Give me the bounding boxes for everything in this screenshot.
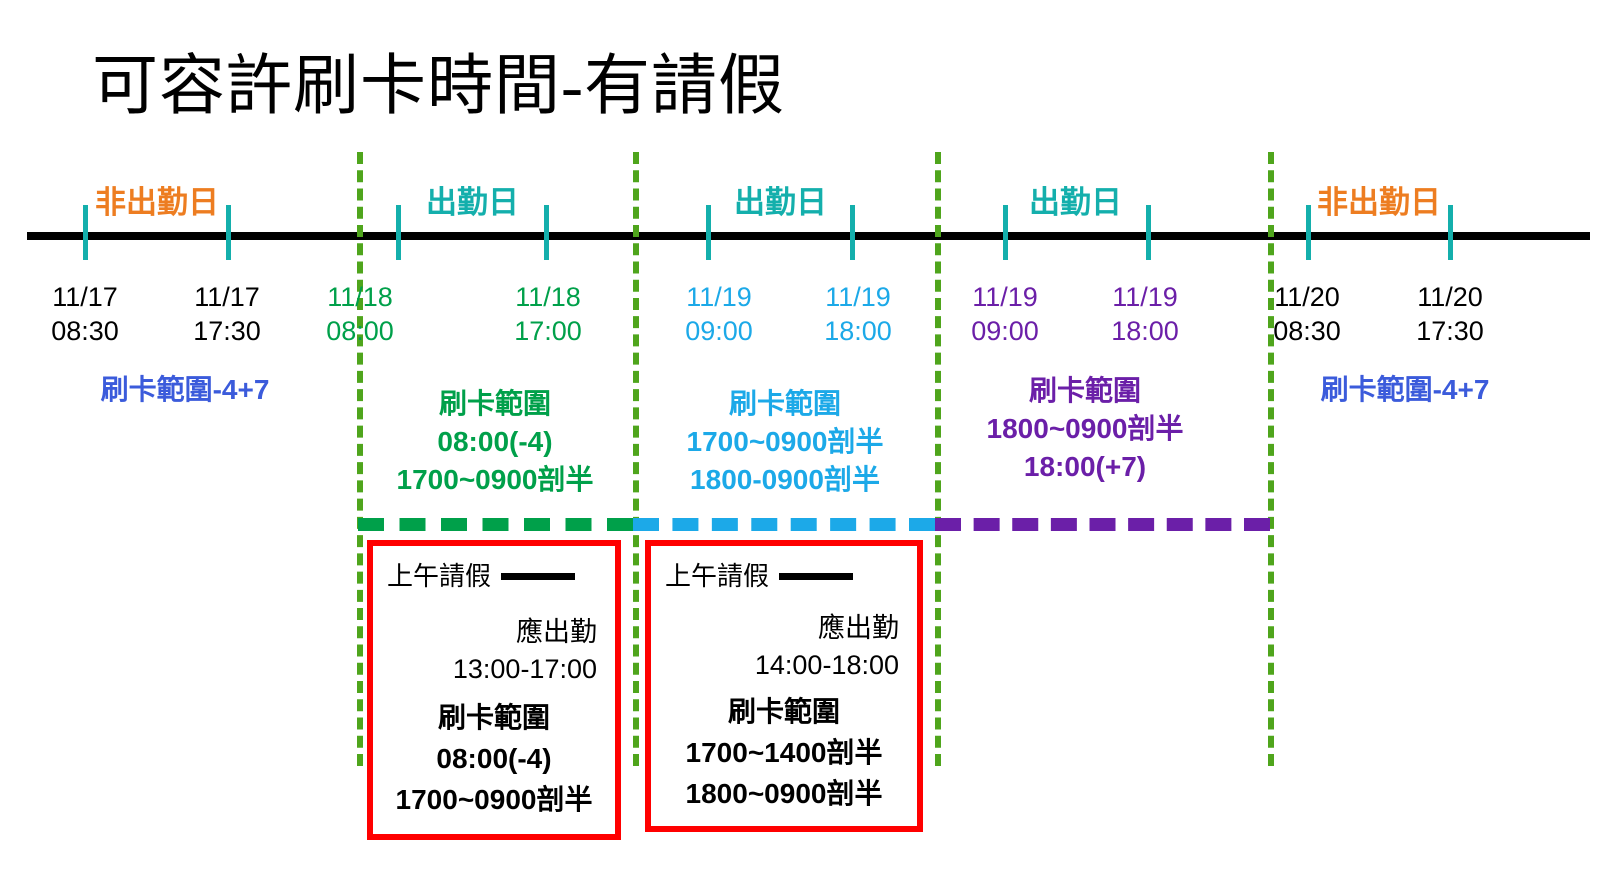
range-line-2: 1800-0900剖半 [645, 461, 925, 499]
range-title: 刷卡範圍 [360, 385, 630, 423]
stamp-date: 11/18 [300, 280, 420, 314]
stamp-date: 11/17 [167, 280, 287, 314]
range-line-1: 1700~0900剖半 [645, 423, 925, 461]
range-day-11-19-a: 刷卡範圍 1700~0900剖半 1800-0900剖半 [645, 385, 925, 499]
should-attend-label-11-19: 應出勤 [651, 610, 917, 646]
dashed-bar-blue [633, 518, 935, 531]
tick-start-day-11-17 [83, 205, 88, 260]
range-day-11-18: 刷卡範圍 08:00(-4) 1700~0900剖半 [360, 385, 630, 499]
leave-range-line-1-11-19: 1700~1400剖半 [651, 733, 917, 773]
stamp-date: 11/19 [945, 280, 1065, 314]
stamp-start-day-11-20: 11/20 08:30 [1247, 280, 1367, 348]
tick-start-day-11-18 [396, 205, 401, 260]
range-line-1: 08:00(-4) [360, 423, 630, 461]
timeline-axis [27, 232, 1590, 240]
day-label-day-11-19-b: 出勤日 [1013, 186, 1138, 220]
range-day-11-19-b: 刷卡範圍 1800~0900剖半 18:00(+7) [940, 372, 1230, 486]
stamp-time: 18:00 [798, 314, 918, 348]
tick-end-day-11-19-b [1146, 205, 1151, 260]
day-label-day-11-19-a: 出勤日 [718, 186, 843, 220]
stamp-end-day-11-19-b: 11/19 18:00 [1085, 280, 1205, 348]
leave-range-title-11-19: 刷卡範圍 [651, 692, 917, 732]
section-divider-4 [1268, 152, 1274, 766]
day-label-day-11-17: 非出勤日 [95, 186, 215, 220]
stamp-date: 11/20 [1247, 280, 1367, 314]
should-attend-time-11-18: 13:00-17:00 [373, 651, 615, 687]
diagram-canvas: 可容許刷卡時間-有請假 非出勤日 11/17 08:30 11/17 17:30… [0, 0, 1600, 869]
leave-range-line-2-11-19: 1800~0900剖半 [651, 774, 917, 814]
stamp-time: 09:00 [659, 314, 779, 348]
stamp-date: 11/20 [1390, 280, 1510, 314]
leave-head-11-19: 上午請假 [665, 560, 853, 592]
leave-range-line-2-11-18: 1700~0900剖半 [373, 780, 615, 820]
stamp-date: 11/19 [798, 280, 918, 314]
dashed-bar-green [358, 518, 633, 531]
day-label-day-11-18: 出勤日 [410, 186, 535, 220]
stamp-start-day-11-19-a: 11/19 09:00 [659, 280, 779, 348]
stamp-date: 11/19 [1085, 280, 1205, 314]
tick-end-day-11-20 [1448, 205, 1453, 260]
stamp-end-day-11-17: 11/17 17:30 [167, 280, 287, 348]
stamp-time: 18:00 [1085, 314, 1205, 348]
stamp-time: 08:30 [1247, 314, 1367, 348]
tick-end-day-11-17 [226, 205, 231, 260]
section-divider-2 [633, 152, 639, 766]
leave-head-11-18: 上午請假 [387, 560, 575, 592]
leave-range-line-1-11-18: 08:00(-4) [373, 739, 615, 779]
stamp-date: 11/17 [25, 280, 145, 314]
stamp-time: 17:30 [1390, 314, 1510, 348]
leave-box-11-18: 上午請假 應出勤 13:00-17:00 刷卡範圍 08:00(-4) 1700… [367, 540, 621, 840]
range-title: 刷卡範圍 [940, 372, 1230, 410]
leave-head-label: 上午請假 [387, 560, 491, 592]
stamp-date: 11/19 [659, 280, 779, 314]
range-day-11-20: 刷卡範圍-4+7 [1270, 368, 1540, 408]
stamp-end-day-11-18: 11/18 17:00 [488, 280, 608, 348]
leave-rule-line [501, 573, 575, 580]
range-line-2: 18:00(+7) [940, 448, 1230, 486]
stamp-time: 17:30 [167, 314, 287, 348]
tick-end-day-11-18 [544, 205, 549, 260]
stamp-start-day-11-17: 11/17 08:30 [25, 280, 145, 348]
tick-start-day-11-19-b [1003, 205, 1008, 260]
leave-head-label: 上午請假 [665, 560, 769, 592]
range-line-1: 1800~0900剖半 [940, 410, 1230, 448]
stamp-start-day-11-19-b: 11/19 09:00 [945, 280, 1065, 348]
tick-end-day-11-19-a [850, 205, 855, 260]
range-day-11-17: 刷卡範圍-4+7 [50, 368, 320, 408]
stamp-time: 09:00 [945, 314, 1065, 348]
stamp-time: 08:00 [300, 314, 420, 348]
page-title: 可容許刷卡時間-有請假 [92, 50, 785, 124]
should-attend-label-11-18: 應出勤 [373, 614, 615, 650]
tick-start-day-11-19-a [706, 205, 711, 260]
stamp-start-day-11-18: 11/18 08:00 [300, 280, 420, 348]
dashed-bar-purple [935, 518, 1270, 531]
leave-range-title-11-18: 刷卡範圍 [373, 698, 615, 738]
should-attend-time-11-19: 14:00-18:00 [651, 647, 917, 683]
day-label-day-11-20: 非出勤日 [1317, 186, 1437, 220]
stamp-time: 17:00 [488, 314, 608, 348]
leave-rule-line [779, 573, 853, 580]
stamp-time: 08:30 [25, 314, 145, 348]
range-line-2: 1700~0900剖半 [360, 461, 630, 499]
tick-start-day-11-20 [1306, 205, 1311, 260]
range-title: 刷卡範圍 [645, 385, 925, 423]
stamp-end-day-11-20: 11/20 17:30 [1390, 280, 1510, 348]
stamp-end-day-11-19-a: 11/19 18:00 [798, 280, 918, 348]
leave-box-11-19: 上午請假 應出勤 14:00-18:00 刷卡範圍 1700~1400剖半 18… [645, 540, 923, 832]
stamp-date: 11/18 [488, 280, 608, 314]
